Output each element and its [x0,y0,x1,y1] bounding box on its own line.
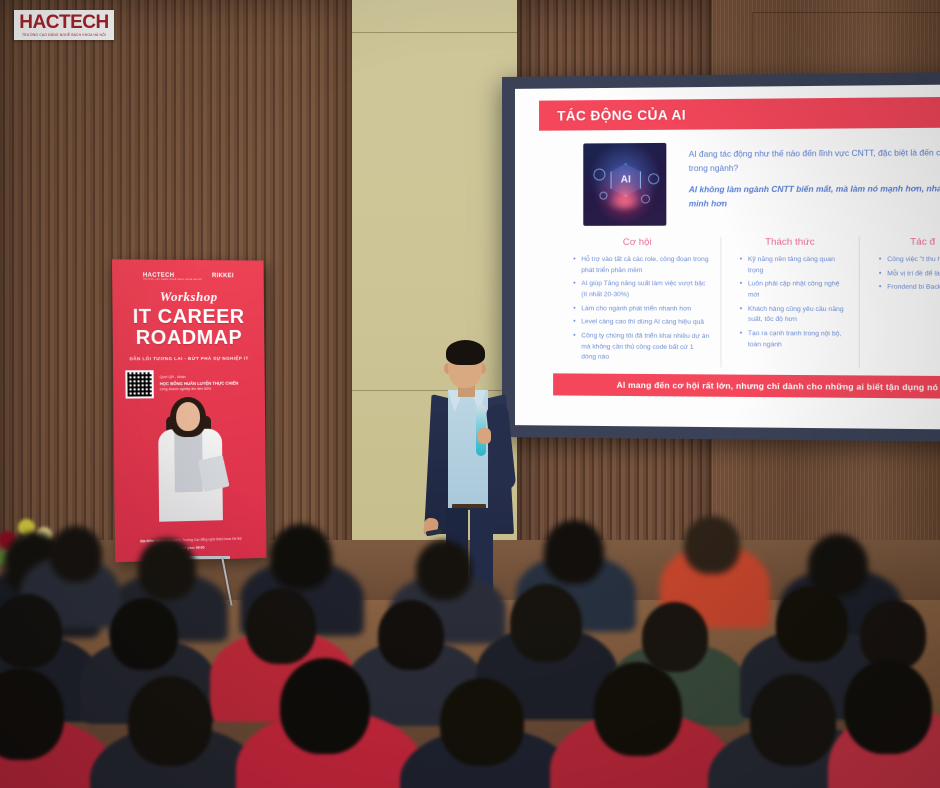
column-heading: Cơ hội [565,237,710,248]
list-item: Công ty chúng tôi đã triển khai nhiều dự… [575,331,710,364]
hactech-logo-word: HACTECH [19,13,108,32]
slide-column-impact: Tác đ Công việc "t thu hẹp Mỗi vị trí đề… [859,236,940,369]
list-item: Kỹ năng nền tảng càng quan trọng [742,255,849,277]
slide-footer-text: AI mang đến cơ hội rất lớn, nhưng chỉ dà… [617,380,939,393]
list-item: Level càng cao thì dùng AI càng hiệu quả [575,318,710,329]
slide-columns: Cơ hội Hỗ trợ vào tất cả các role, công … [555,236,940,369]
slide-intro-text: AI đang tác động như thế nào đến lĩnh vự… [689,146,940,212]
rollup-qr-bold: HỌC BỔNG HUẤN LUYỆN THỰC CHIẾN [160,380,239,386]
column-list: Kỹ năng nền tảng càng quan trọng Luôn ph… [731,255,848,351]
list-item: Hỗ trợ vào tất cả các role, công đoạn tr… [575,255,710,277]
rollup-title-line2: ROADMAP [113,328,265,349]
rollup-tagline: DẪN LỐI TƯƠNG LAI - BỨT PHÁ SỰ NGHIỆP IT [113,356,264,362]
slide-intro-question: AI đang tác động như thế nào đến lĩnh vự… [689,146,940,177]
hactech-logo-subtitle: TRƯỜNG CAO ĐẲNG NGHỀ BÁCH KHOA HÀ NỘI [22,34,106,37]
rollup-qr-text: Quét QR - Nhận HỌC BỔNG HUẤN LUYỆN THỰC … [160,375,239,393]
rollup-banner: HACTECH TRƯỜNG CAO ĐẲNG NGHỀ BÁCH KHOA H… [112,259,267,562]
column-heading: Tác đ [870,236,940,247]
list-item: Khách hàng cũng yêu cầu năng suất, tốc đ… [742,304,849,326]
rollup-script-word: Workshop [112,289,264,306]
slide-title: TÁC ĐỘNG CỦA AI [539,107,686,123]
ai-illustration: AI [583,143,666,226]
projection-screen: TÁC ĐỘNG CỦA AI AI AI đang tác động như … [515,84,940,429]
qr-code-icon [125,370,154,398]
slide-footer-banner: AI mang đến cơ hội rất lớn, nhưng chỉ dà… [553,373,940,399]
rollup-brand-rikkei: RIKKEI [212,273,234,281]
list-item: Mỗi vị trí đề để làm việc [881,269,940,280]
rollup-brand-row: HACTECH TRƯỜNG CAO ĐẲNG NGHỀ BÁCH KHOA H… [112,272,264,281]
ai-hexagon-label: AI [621,174,631,185]
audience [0,520,940,788]
list-item: Làm cho ngành phát triển nhanh hơn [575,304,710,315]
photo-scene: HACTECH TRƯỜNG CAO ĐẲNG NGHỀ BÁCH KHOA H… [0,0,940,788]
slide-column-challenges: Thách thức Kỹ năng nền tảng càng quan tr… [720,237,859,369]
rollup-title-line1: IT CAREER [112,307,264,328]
column-heading: Thách thức [731,237,848,248]
audience-row-near [0,648,940,788]
list-item: Tạo ra cạnh tranh trong nội bộ, toàn ngà… [742,329,849,351]
rollup-model-photo [144,402,237,522]
slide-column-opportunities: Cơ hội Hỗ trợ vào tất cả các role, công … [555,237,720,368]
list-item: Công việc "t thu hẹp [881,255,940,266]
list-item: AI giúp Tăng năng suất làm việc vượt bậc… [575,279,710,301]
list-item: Frondend bi Back-end co [881,283,940,294]
rollup-qr-row: Quét QR - Nhận HỌC BỔNG HUẤN LUYỆN THỰC … [125,370,255,399]
slide-intro-statement: AI không làm ngành CNTT biến mất, mà làm… [689,181,940,211]
rollup-qr-line2: cùng doanh nghiệp lên đến 60% [160,387,239,393]
projection-screen-frame: TÁC ĐỘNG CỦA AI AI AI đang tác động như … [502,72,940,442]
slide-header: TÁC ĐỘNG CỦA AI [539,96,940,130]
list-item: Luôn phải cập nhật công nghệ mới [742,280,849,302]
rollup-brand-hactech: HACTECH TRƯỜNG CAO ĐẲNG NGHỀ BÁCH KHOA H… [143,273,202,281]
column-list: Hỗ trợ vào tất cả các role, công đoạn tr… [565,255,710,364]
column-list: Công việc "t thu hẹp Mỗi vị trí đề để là… [870,255,940,294]
rollup-brand-hactech-sub: TRƯỜNG CAO ĐẲNG NGHỀ BÁCH KHOA HÀ NỘI [143,279,202,281]
hactech-logo: HACTECH TRƯỜNG CAO ĐẲNG NGHỀ BÁCH KHOA H… [14,10,114,40]
